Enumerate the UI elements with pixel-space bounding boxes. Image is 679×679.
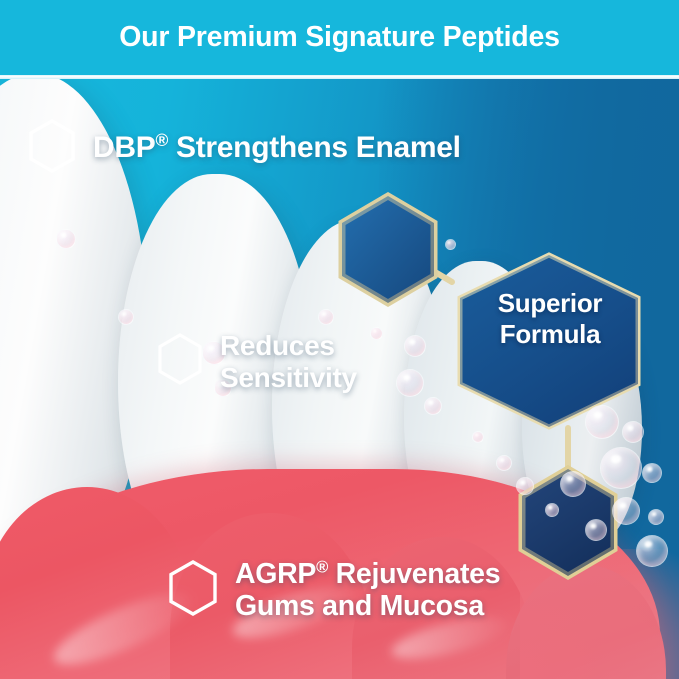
header-divider (0, 75, 679, 79)
registered-mark: ® (316, 558, 328, 577)
callout-dbp: DBP® Strengthens Enamel (27, 118, 461, 179)
callout-agrp-label: AGRP® RejuvenatesGums and Mucosa (235, 558, 500, 623)
callout-reduces-label: Reduces Sensitivity (220, 330, 357, 394)
header-bar: Our Premium Signature Peptides (0, 0, 679, 75)
superior-formula-label: Superior Formula (470, 288, 630, 350)
hexagon-outline-icon (156, 332, 204, 391)
hexagon-outline-icon (27, 118, 77, 179)
hexagon-outline-icon (167, 559, 219, 622)
page-title: Our Premium Signature Peptides (0, 0, 679, 75)
callout-reduces-sensitivity: Reduces Sensitivity (156, 330, 357, 394)
callout-dbp-label: DBP® Strengthens Enamel (93, 131, 461, 165)
registered-mark: ® (155, 130, 168, 150)
promo-graphic: Our Premium Signature Peptides DBP® Stre… (0, 0, 679, 679)
callout-agrp: AGRP® RejuvenatesGums and Mucosa (167, 558, 500, 623)
